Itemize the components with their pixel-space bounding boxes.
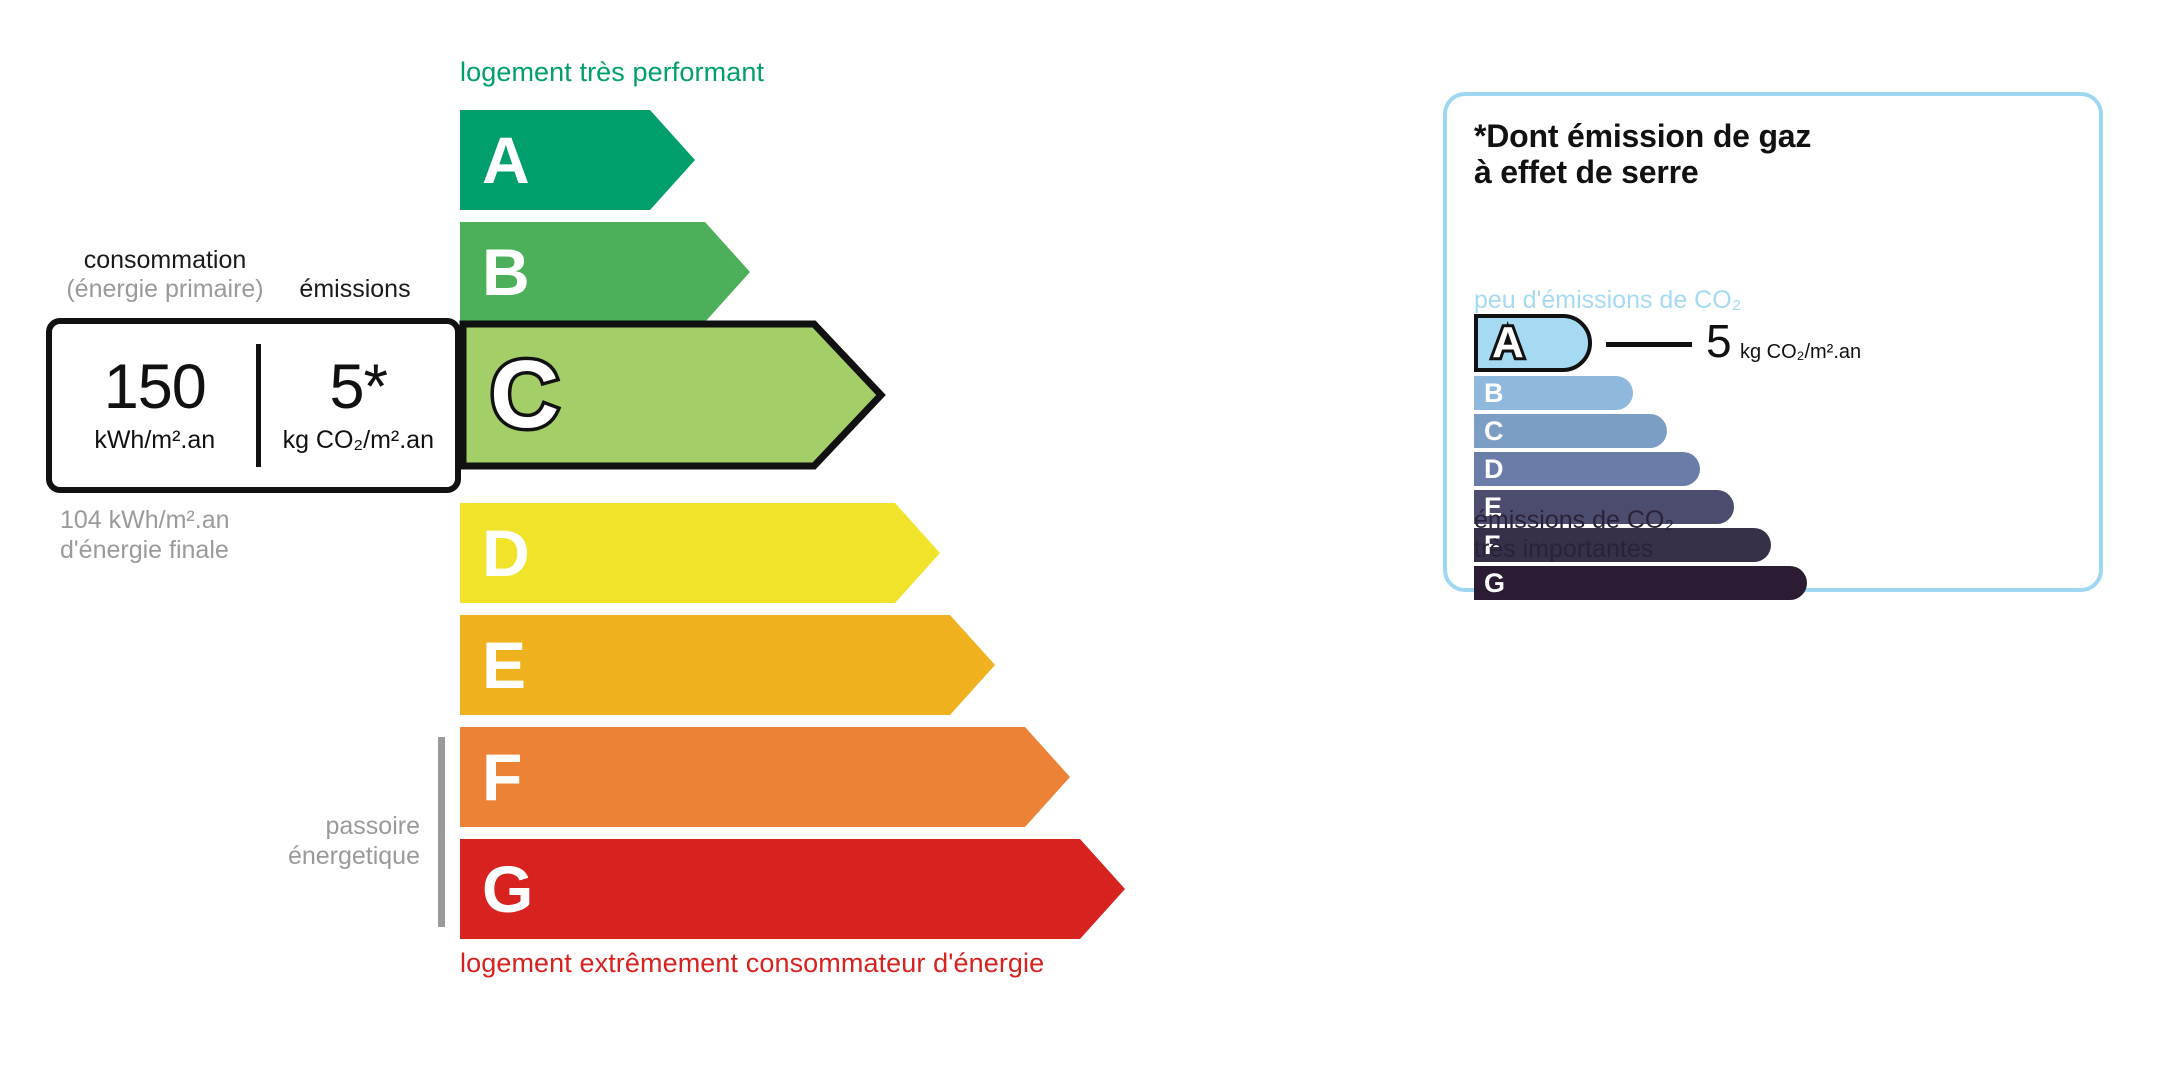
co2-row-b: B: [1474, 376, 2074, 410]
bar-shape-g: [460, 839, 1125, 939]
co2-top-label: peu d'émissions de CO₂: [1474, 286, 1741, 315]
energy-bar-letter-a: A: [482, 127, 530, 193]
energy-bar-letter-b: B: [482, 239, 530, 305]
energy-bar-d: D: [460, 503, 940, 603]
bar-shape-e: [460, 615, 995, 715]
emissions-value-cell: 5* kg CO₂/m².an: [258, 324, 460, 487]
co2-bar-letter-d: D: [1484, 456, 1504, 483]
energy-bar-letter-e: E: [482, 632, 526, 698]
passoire-label-line2: énergetique: [200, 841, 420, 871]
dpe-diagram: logement très performant consommation (é…: [0, 0, 2169, 1079]
emissions-value: 5*: [329, 357, 387, 417]
co2-row-d: D: [1474, 452, 2074, 486]
passoire-marker-line: [438, 737, 445, 927]
final-energy-label: d'énergie finale: [60, 535, 390, 565]
emissions-unit: kg CO₂/m².an: [283, 425, 434, 455]
co2-value: 5: [1706, 318, 1732, 364]
energy-bottom-label: logement extrêmement consommateur d'éner…: [460, 948, 1044, 979]
co2-bar-d: D: [1474, 452, 1700, 486]
energy-bar-letter-c: C: [490, 347, 559, 443]
energy-bar-a: A: [460, 110, 695, 210]
co2-bar-a: A: [1474, 314, 1592, 372]
bar-shape-f: [460, 727, 1070, 827]
co2-bottom-line1: émissions de CO₂: [1474, 506, 1994, 535]
energy-bar-b: B: [460, 222, 750, 322]
energy-bar-e: E: [460, 615, 995, 715]
co2-bar-letter-b: B: [1484, 380, 1504, 407]
co2-panel-title: *Dont émission de gaz à effet de serre: [1474, 118, 2034, 190]
co2-connector-line: [1606, 342, 1692, 347]
bar-shape-d: [460, 503, 940, 603]
energy-value-box: 150 kWh/m².an 5* kg CO₂/m².an: [46, 318, 461, 493]
primary-energy-value-cell: 150 kWh/m².an: [52, 324, 258, 487]
co2-bottom-label: émissions de CO₂ très importantes: [1474, 506, 1994, 564]
co2-row-a: A 5 kg CO₂/m².an: [1474, 314, 2074, 372]
co2-value-unit: kg CO₂/m².an: [1740, 342, 1861, 362]
co2-bar-c: C: [1474, 414, 1667, 448]
passoire-label: passoire énergetique: [200, 811, 420, 871]
co2-bar-b: B: [1474, 376, 1633, 410]
co2-row-g: G: [1474, 566, 2074, 600]
co2-bar-letter-c: C: [1484, 418, 1504, 445]
energy-bar-g: G: [460, 839, 1125, 939]
energy-performance-chart: logement très performant consommation (é…: [0, 0, 1420, 1079]
primary-energy-unit: kWh/m².an: [94, 425, 215, 455]
co2-panel: *Dont émission de gaz à effet de serre p…: [1443, 92, 2103, 592]
energy-bar-letter-f: F: [482, 744, 522, 810]
co2-title-line1: *Dont émission de gaz: [1474, 118, 2034, 154]
co2-bottom-line2: très importantes: [1474, 535, 1994, 564]
co2-row-c: C: [1474, 414, 2074, 448]
final-energy-value: 104 kWh/m².an: [60, 505, 390, 535]
passoire-label-line1: passoire: [200, 811, 420, 841]
energy-bar-letter-g: G: [482, 856, 533, 922]
energy-bar-letter-d: D: [482, 520, 530, 586]
co2-bar-letter-g: G: [1484, 570, 1505, 597]
energy-bar-c: C: [460, 321, 885, 469]
co2-bar-g: G: [1474, 566, 1807, 600]
co2-bar-letter-a: A: [1492, 321, 1524, 365]
energy-bar-f: F: [460, 727, 1070, 827]
primary-energy-value: 150: [104, 357, 206, 417]
final-energy-note: 104 kWh/m².an d'énergie finale: [60, 505, 390, 565]
co2-title-line2: à effet de serre: [1474, 154, 2034, 190]
